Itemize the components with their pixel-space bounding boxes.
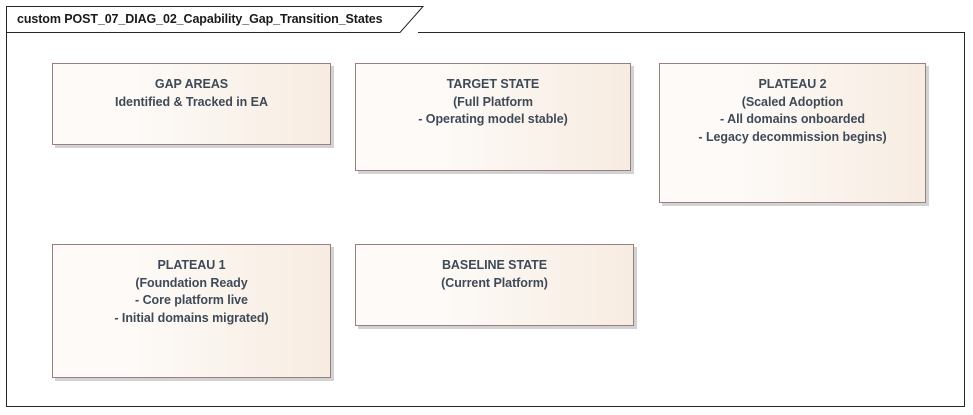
frame-border-bottom <box>6 406 965 407</box>
node-title-line: BASELINE STATE <box>356 257 633 275</box>
node-target-state[interactable]: TARGET STATE(Full Platform- Operating mo… <box>355 63 631 171</box>
node-title-line: TARGET STATE <box>356 76 630 94</box>
node-detail-line: - Core platform live <box>53 292 330 310</box>
node-plateau-2[interactable]: PLATEAU 2(Scaled Adoption- All domains o… <box>659 63 926 203</box>
node-title-line: GAP AREAS <box>53 76 330 94</box>
frame-border-right <box>964 32 965 407</box>
node-title-line: PLATEAU 1 <box>53 257 330 275</box>
node-detail-line: (Current Platform) <box>356 275 633 293</box>
node-baseline-state[interactable]: BASELINE STATE(Current Platform) <box>355 244 634 326</box>
node-label-gap-areas: GAP AREASIdentified & Tracked in EA <box>53 76 330 111</box>
node-detail-line: - Legacy decommission begins) <box>660 129 925 147</box>
frame-border-top <box>418 32 965 33</box>
frame-border-left <box>6 6 7 407</box>
node-title-line: PLATEAU 2 <box>660 76 925 94</box>
node-detail-line: Identified & Tracked in EA <box>53 94 330 112</box>
node-label-target-state: TARGET STATE(Full Platform- Operating mo… <box>356 76 630 129</box>
node-label-plateau-1: PLATEAU 1(Foundation Ready- Core platfor… <box>53 257 330 327</box>
node-plateau-1[interactable]: PLATEAU 1(Foundation Ready- Core platfor… <box>52 244 331 378</box>
node-detail-line: (Scaled Adoption <box>660 94 925 112</box>
node-label-baseline-state: BASELINE STATE(Current Platform) <box>356 257 633 292</box>
diagram-title-label: custom POST_07_DIAG_02_Capability_Gap_Tr… <box>17 6 382 33</box>
diagram-title-tab[interactable]: custom POST_07_DIAG_02_Capability_Gap_Tr… <box>6 6 424 33</box>
node-detail-line: - Initial domains migrated) <box>53 310 330 328</box>
node-label-plateau-2: PLATEAU 2(Scaled Adoption- All domains o… <box>660 76 925 146</box>
node-detail-line: - Operating model stable) <box>356 111 630 129</box>
node-detail-line: - All domains onboarded <box>660 111 925 129</box>
node-detail-line: (Full Platform <box>356 94 630 112</box>
diagram-canvas[interactable]: custom POST_07_DIAG_02_Capability_Gap_Tr… <box>6 6 965 407</box>
node-gap-areas[interactable]: GAP AREASIdentified & Tracked in EA <box>52 63 331 145</box>
node-detail-line: (Foundation Ready <box>53 275 330 293</box>
